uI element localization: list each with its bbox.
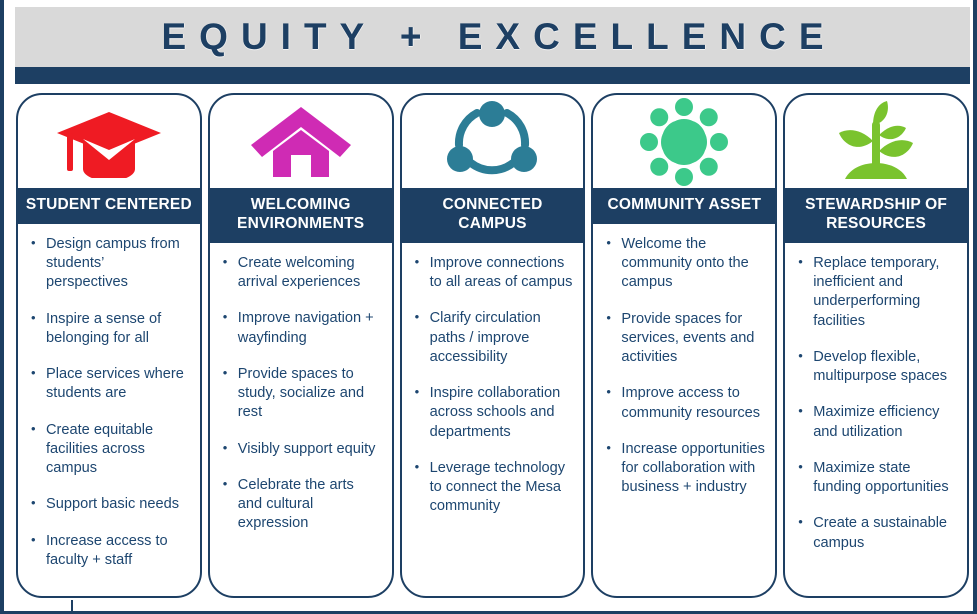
header-banner: EQUITY + EXCELLENCE: [15, 7, 970, 67]
graduation-cap-icon: [18, 95, 200, 188]
header-accent-bar: [15, 67, 970, 84]
list-item: Improve connections to all areas of camp…: [413, 254, 574, 293]
bullet-list: Improve connections to all areas of camp…: [413, 254, 574, 517]
connected-nodes-icon: [402, 95, 584, 188]
list-item: Visibly support equity: [221, 440, 382, 459]
list-item: Provide spaces to study, socialize and r…: [221, 365, 382, 423]
list-item: Design campus from students’ perspective…: [29, 235, 190, 293]
bullet-list: Design campus from students’ perspective…: [29, 235, 190, 570]
list-item: Maximize efficiency and utilization: [796, 403, 957, 442]
pillar-title: COMMUNITY ASSET: [593, 188, 775, 224]
list-item: Inspire a sense of belonging for all: [29, 310, 190, 349]
sprout-icon: [785, 95, 967, 188]
pillar-title: WELCOMING ENVIRONMENTS: [210, 188, 392, 243]
list-item: Improve access to community resources: [604, 384, 765, 423]
pillar-title: STEWARDSHIP OF RESOURCES: [785, 188, 967, 243]
list-item: Develop flexible, multipurpose spaces: [796, 348, 957, 387]
house-icon: [210, 95, 392, 188]
page-tick-mark: [71, 600, 73, 613]
pillar-body: Create welcoming arrival experiences Imp…: [210, 243, 392, 596]
pillar-card-connected-campus[interactable]: CONNECTED CAMPUS Improve connections to …: [400, 93, 586, 598]
pillar-title: STUDENT CENTERED: [18, 188, 200, 224]
list-item: Place services where students are: [29, 365, 190, 404]
list-item: Create a sustainable campus: [796, 514, 957, 553]
bullet-list: Create welcoming arrival experiences Imp…: [221, 254, 382, 534]
pillar-title: CONNECTED CAMPUS: [402, 188, 584, 243]
list-item: Leverage technology to connect the Mesa …: [413, 459, 574, 517]
list-item: Provide spaces for services, events and …: [604, 310, 765, 368]
list-item: Maximize state funding opportunities: [796, 459, 957, 498]
pillar-body: Welcome the community onto the campus Pr…: [593, 224, 775, 596]
pillar-card-community-asset[interactable]: COMMUNITY ASSET Welcome the community on…: [591, 93, 777, 598]
bullet-list: Welcome the community onto the campus Pr…: [604, 235, 765, 498]
pillar-card-row: STUDENT CENTERED Design campus from stud…: [16, 93, 969, 598]
list-item: Support basic needs: [29, 495, 190, 514]
pillar-body: Improve connections to all areas of camp…: [402, 243, 584, 596]
pillar-body: Design campus from students’ perspective…: [18, 224, 200, 596]
pillar-card-welcoming-environments[interactable]: WELCOMING ENVIRONMENTS Create welcoming …: [208, 93, 394, 598]
list-item: Create welcoming arrival experiences: [221, 254, 382, 293]
list-item: Increase opportunities for collaboration…: [604, 440, 765, 498]
page-title: EQUITY + EXCELLENCE: [149, 16, 837, 58]
people-circle-icon: [593, 95, 775, 188]
list-item: Create equitable facilities across campu…: [29, 421, 190, 479]
infographic-page: EQUITY + EXCELLENCE STUDENT CENTERED Des…: [0, 0, 977, 614]
list-item: Inspire collaboration across schools and…: [413, 384, 574, 442]
list-item: Improve navigation + wayfinding: [221, 309, 382, 348]
list-item: Clarify circulation paths / improve acce…: [413, 309, 574, 367]
list-item: Celebrate the arts and cultural expressi…: [221, 476, 382, 534]
pillar-card-stewardship-of-resources[interactable]: STEWARDSHIP OF RESOURCES Replace tempora…: [783, 93, 969, 598]
list-item: Replace temporary, inefficient and under…: [796, 254, 957, 331]
pillar-body: Replace temporary, inefficient and under…: [785, 243, 967, 596]
pillar-card-student-centered[interactable]: STUDENT CENTERED Design campus from stud…: [16, 93, 202, 598]
bullet-list: Replace temporary, inefficient and under…: [796, 254, 957, 553]
list-item: Welcome the community onto the campus: [604, 235, 765, 293]
list-item: Increase access to faculty + staff: [29, 532, 190, 571]
